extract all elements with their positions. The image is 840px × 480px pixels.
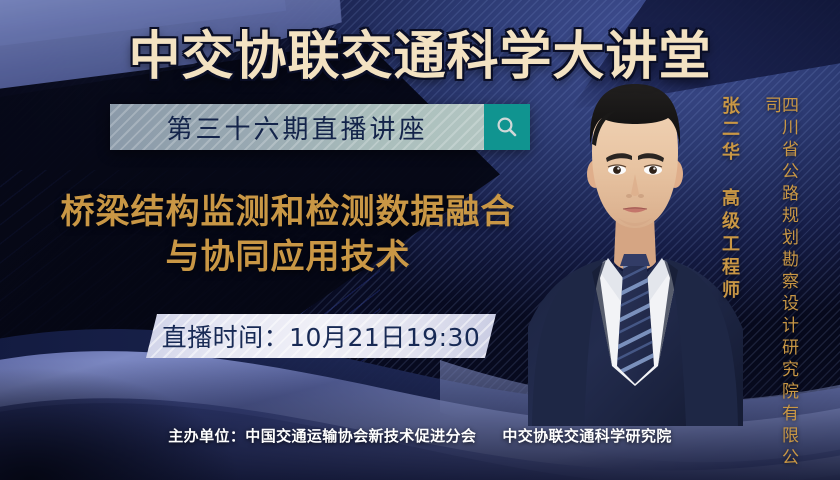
broadcast-time-banner: 直播时间：10月21日19:30 bbox=[146, 314, 496, 358]
broadcast-time-text: 直播时间：10月21日19:30 bbox=[162, 318, 481, 354]
organizer-1: 中国交通运输协会新技术促进分会 bbox=[245, 427, 476, 445]
session-badge: 第三十六期直播讲座 bbox=[110, 104, 530, 150]
lecture-topic-line-2: 与协同应用技术 bbox=[18, 235, 558, 280]
session-badge-body: 第三十六期直播讲座 bbox=[110, 104, 484, 150]
organizers-footer: 主办单位：中国交通运输协会新技术促进分会中交协联交通科学研究院 bbox=[0, 425, 840, 446]
webinar-poster: 中交协联交通科学大讲堂 第三十六期直播讲座 桥梁结构监测和检测数据融合 与协同应… bbox=[0, 0, 840, 480]
session-badge-label: 第三十六期直播讲座 bbox=[166, 109, 427, 146]
background-bottom-left-shade bbox=[0, 280, 300, 480]
lecture-topic-line-1: 桥梁结构监测和检测数据融合 bbox=[61, 192, 516, 232]
organizer-2: 中交协联交通科学研究院 bbox=[502, 427, 671, 445]
speaker-portrait bbox=[528, 66, 743, 426]
speaker-organization: 四川省公路规划勘察设计研究院有限公司 bbox=[762, 96, 796, 480]
speaker-name-title: 张二华 高级工程师 bbox=[720, 96, 738, 303]
lecture-topic: 桥梁结构监测和检测数据融合 与协同应用技术 bbox=[18, 190, 558, 280]
page-title: 中交协联交通科学大讲堂 bbox=[0, 14, 840, 89]
search-icon[interactable] bbox=[484, 104, 530, 150]
organizers-prefix: 主办单位： bbox=[168, 427, 245, 445]
